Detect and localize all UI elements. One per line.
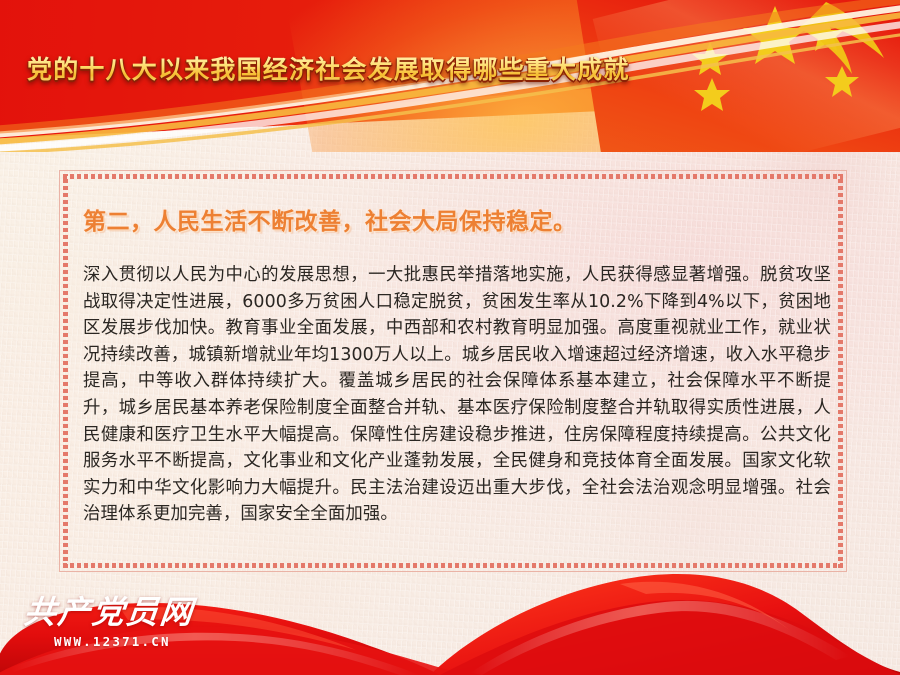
site-logo[interactable]: 共产党员网 WWW.12371.CN bbox=[24, 596, 254, 649]
poster-root: 党的十八大以来我国经济社会发展取得哪些重大成就 第二，人民生活不断改善，社会大局… bbox=[0, 0, 900, 675]
content-panel: 第二，人民生活不断改善，社会大局保持稳定。 深入贯彻以人民为中心的发展思想，一大… bbox=[59, 170, 847, 572]
section-body-text: 深入贯彻以人民为中心的发展思想，一大批惠民举措落地实施，人民获得感显著增强。脱贫… bbox=[83, 262, 831, 528]
banner-title: 党的十八大以来我国经济社会发展取得哪些重大成就 bbox=[27, 50, 630, 86]
site-logo-text: 共产党员网 bbox=[22, 596, 255, 628]
content-panel-inner-border: 第二，人民生活不断改善，社会大局保持稳定。 深入贯彻以人民为中心的发展思想，一大… bbox=[63, 174, 843, 568]
header-banner: 党的十八大以来我国经济社会发展取得哪些重大成就 bbox=[0, 0, 900, 152]
section-heading: 第二，人民生活不断改善，社会大局保持稳定。 bbox=[83, 202, 577, 236]
site-logo-url: WWW.12371.CN bbox=[54, 634, 254, 649]
